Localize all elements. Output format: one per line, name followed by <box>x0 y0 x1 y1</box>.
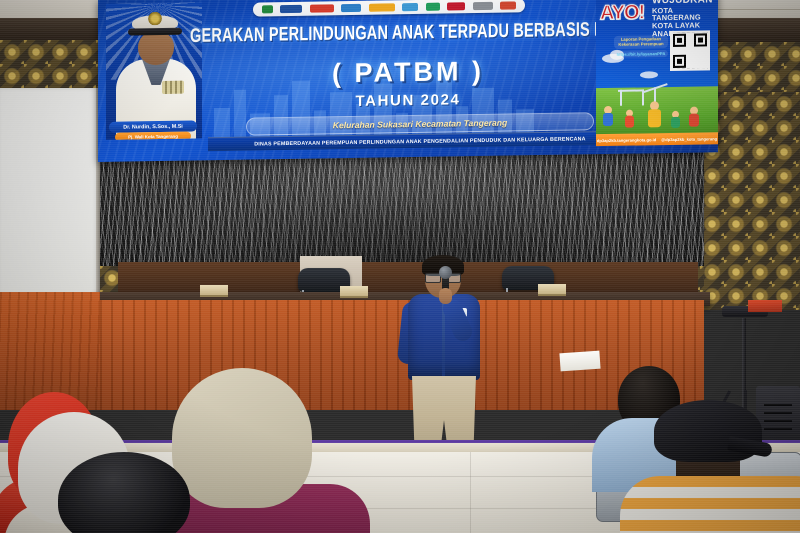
partner-logo-icon <box>310 4 334 12</box>
official-portrait: Dr. Nurdin, S.Sos., M.Si Pj. Wali Kota T… <box>106 2 202 140</box>
partner-logo-icon <box>341 4 361 12</box>
textured-acoustic-wall <box>100 150 704 272</box>
qr-url-text: https://bit.ly/layananPPA <box>614 50 668 58</box>
partner-logo-icon <box>369 3 395 11</box>
batik-wallpaper-left <box>0 40 112 90</box>
microphone-icon <box>439 266 452 279</box>
portrait-medals <box>162 81 184 94</box>
partner-logo-icon <box>280 5 302 13</box>
banner-contact-bar: dp3ap2kb.tangerangkota.go.id @dp3ap2kb_k… <box>596 132 718 146</box>
portrait-name-text: Dr. Nurdin, S.Sos., M.Si <box>123 123 183 130</box>
banner-playground-illustration <box>596 86 718 136</box>
event-banner: Dr. Nurdin, S.Sos., M.Si Pj. Wali Kota T… <box>98 0 718 162</box>
portrait-cap-emblem-icon <box>148 12 162 25</box>
partner-logo-icon <box>402 3 418 11</box>
qr-caption-block: Laporan Pengaduan Kekerasan Perempuan ht… <box>614 35 668 57</box>
banner-acronym: ( PATBM ) <box>218 54 598 91</box>
banner-title: GERAKAN PERLINDUNGAN ANAK TERPADU BERBAS… <box>190 19 626 47</box>
batik-wallpaper-top-right <box>712 42 800 94</box>
qr-caption-text: Laporan Pengaduan Kekerasan Perempuan <box>614 35 668 48</box>
portrait-role-label: Pj. Wali Kota Tangerang <box>115 132 191 140</box>
partner-logo-icon <box>447 2 465 10</box>
banner-logo-strip <box>253 0 525 17</box>
banner-subtitle-text: Kelurahan Sukasari Kecamatan Tangerang <box>333 118 508 131</box>
presenter <box>392 258 496 466</box>
presenter-hand <box>439 288 452 304</box>
projection-screen <box>0 88 98 300</box>
banner-footer-text: DINAS PEMBERDAYAAN PEREMPUAN PERLINDUNGA… <box>254 136 585 147</box>
desk-nameplate <box>538 284 566 296</box>
contact-website-text: dp3ap2kb.tangerangkota.go.id <box>597 137 656 143</box>
qr-code <box>670 30 710 71</box>
audience-member-dark-hair <box>58 452 198 533</box>
event-photo: Dr. Nurdin, S.Sos., M.Si Pj. Wali Kota T… <box>0 0 800 533</box>
desk-nameplate <box>340 286 368 298</box>
portrait-role-text: Pj. Wali Kota Tangerang <box>128 134 178 140</box>
papers-on-desk <box>559 351 600 372</box>
ayo-logo: AYO! <box>600 0 648 26</box>
partner-logo-icon <box>426 3 440 11</box>
banner-right-panel: AYO! WUJUDKAN KOTA TANGERANG KOTA LAYAK … <box>596 0 718 154</box>
audience-member-black-cap <box>632 400 800 533</box>
contact-social-text: @dp3ap2kb_kota_tangerang <box>661 136 717 142</box>
desk-nameplate <box>200 285 228 297</box>
partner-logo-icon <box>500 1 516 9</box>
red-equipment-case <box>748 300 782 312</box>
partner-logo-icon <box>473 2 493 10</box>
partner-logo-icon <box>262 5 273 13</box>
